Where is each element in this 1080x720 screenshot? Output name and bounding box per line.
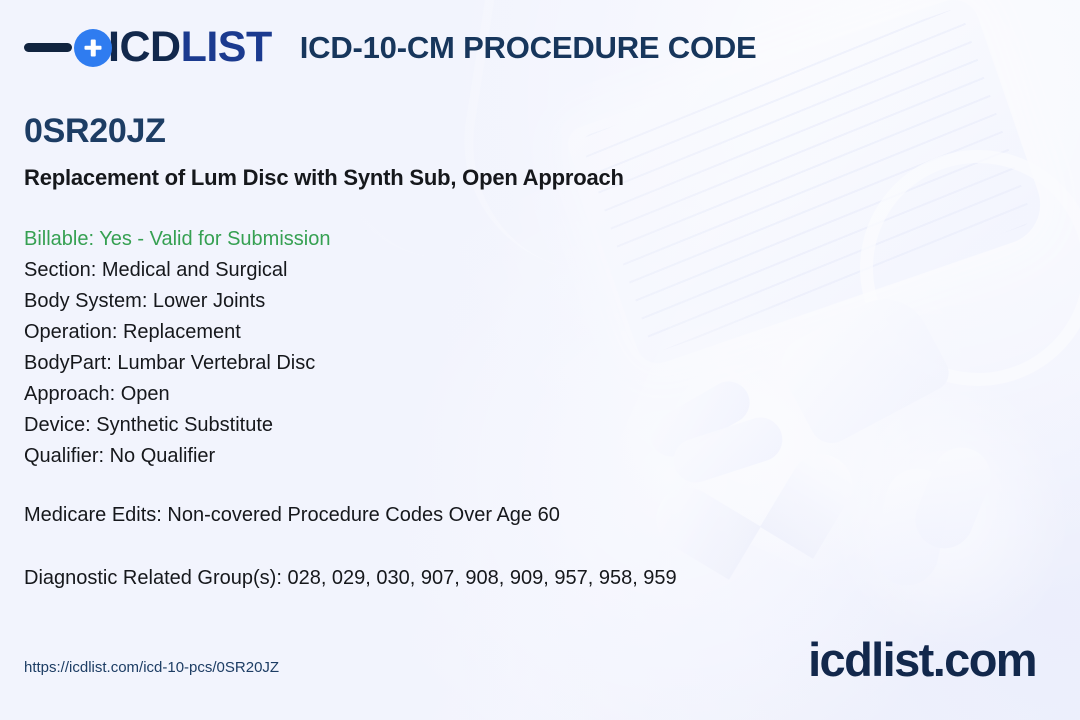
brand-wordmark: icdlist.com [808,636,1036,683]
detail-body-system: Body System: Lower Joints [24,286,330,317]
page-header: ICD LIST ICD-10-CM PROCEDURE CODE [24,26,757,69]
icdlist-logo[interactable]: ICD LIST [24,26,272,69]
logo-word-icd: ICD [108,26,181,69]
card-content: ICD LIST ICD-10-CM PROCEDURE CODE 0SR20J… [0,0,1080,720]
dash-icon [24,43,72,52]
source-url[interactable]: https://icdlist.com/icd-10-pcs/0SR20JZ [24,660,279,675]
diagnostic-related-groups-note: Diagnostic Related Group(s): 028, 029, 0… [24,565,677,592]
logo-word-list: LIST [181,26,272,69]
code-attribute-list: Billable: Yes - Valid for Submission Sec… [24,224,330,472]
medicare-edits-note: Medicare Edits: Non-covered Procedure Co… [24,502,560,529]
detail-section: Section: Medical and Surgical [24,255,330,286]
page-title: ICD-10-CM PROCEDURE CODE [300,32,757,63]
detail-body-part: BodyPart: Lumbar Vertebral Disc [24,348,330,379]
procedure-code-card: ICD LIST ICD-10-CM PROCEDURE CODE 0SR20J… [0,0,1080,720]
plus-circle-icon [74,29,112,67]
detail-device: Device: Synthetic Substitute [24,410,330,441]
detail-operation: Operation: Replacement [24,317,330,348]
detail-billable: Billable: Yes - Valid for Submission [24,224,330,255]
procedure-description: Replacement of Lum Disc with Synth Sub, … [24,165,624,191]
detail-qualifier: Qualifier: No Qualifier [24,441,330,472]
detail-approach: Approach: Open [24,379,330,410]
procedure-code: 0SR20JZ [24,112,166,151]
